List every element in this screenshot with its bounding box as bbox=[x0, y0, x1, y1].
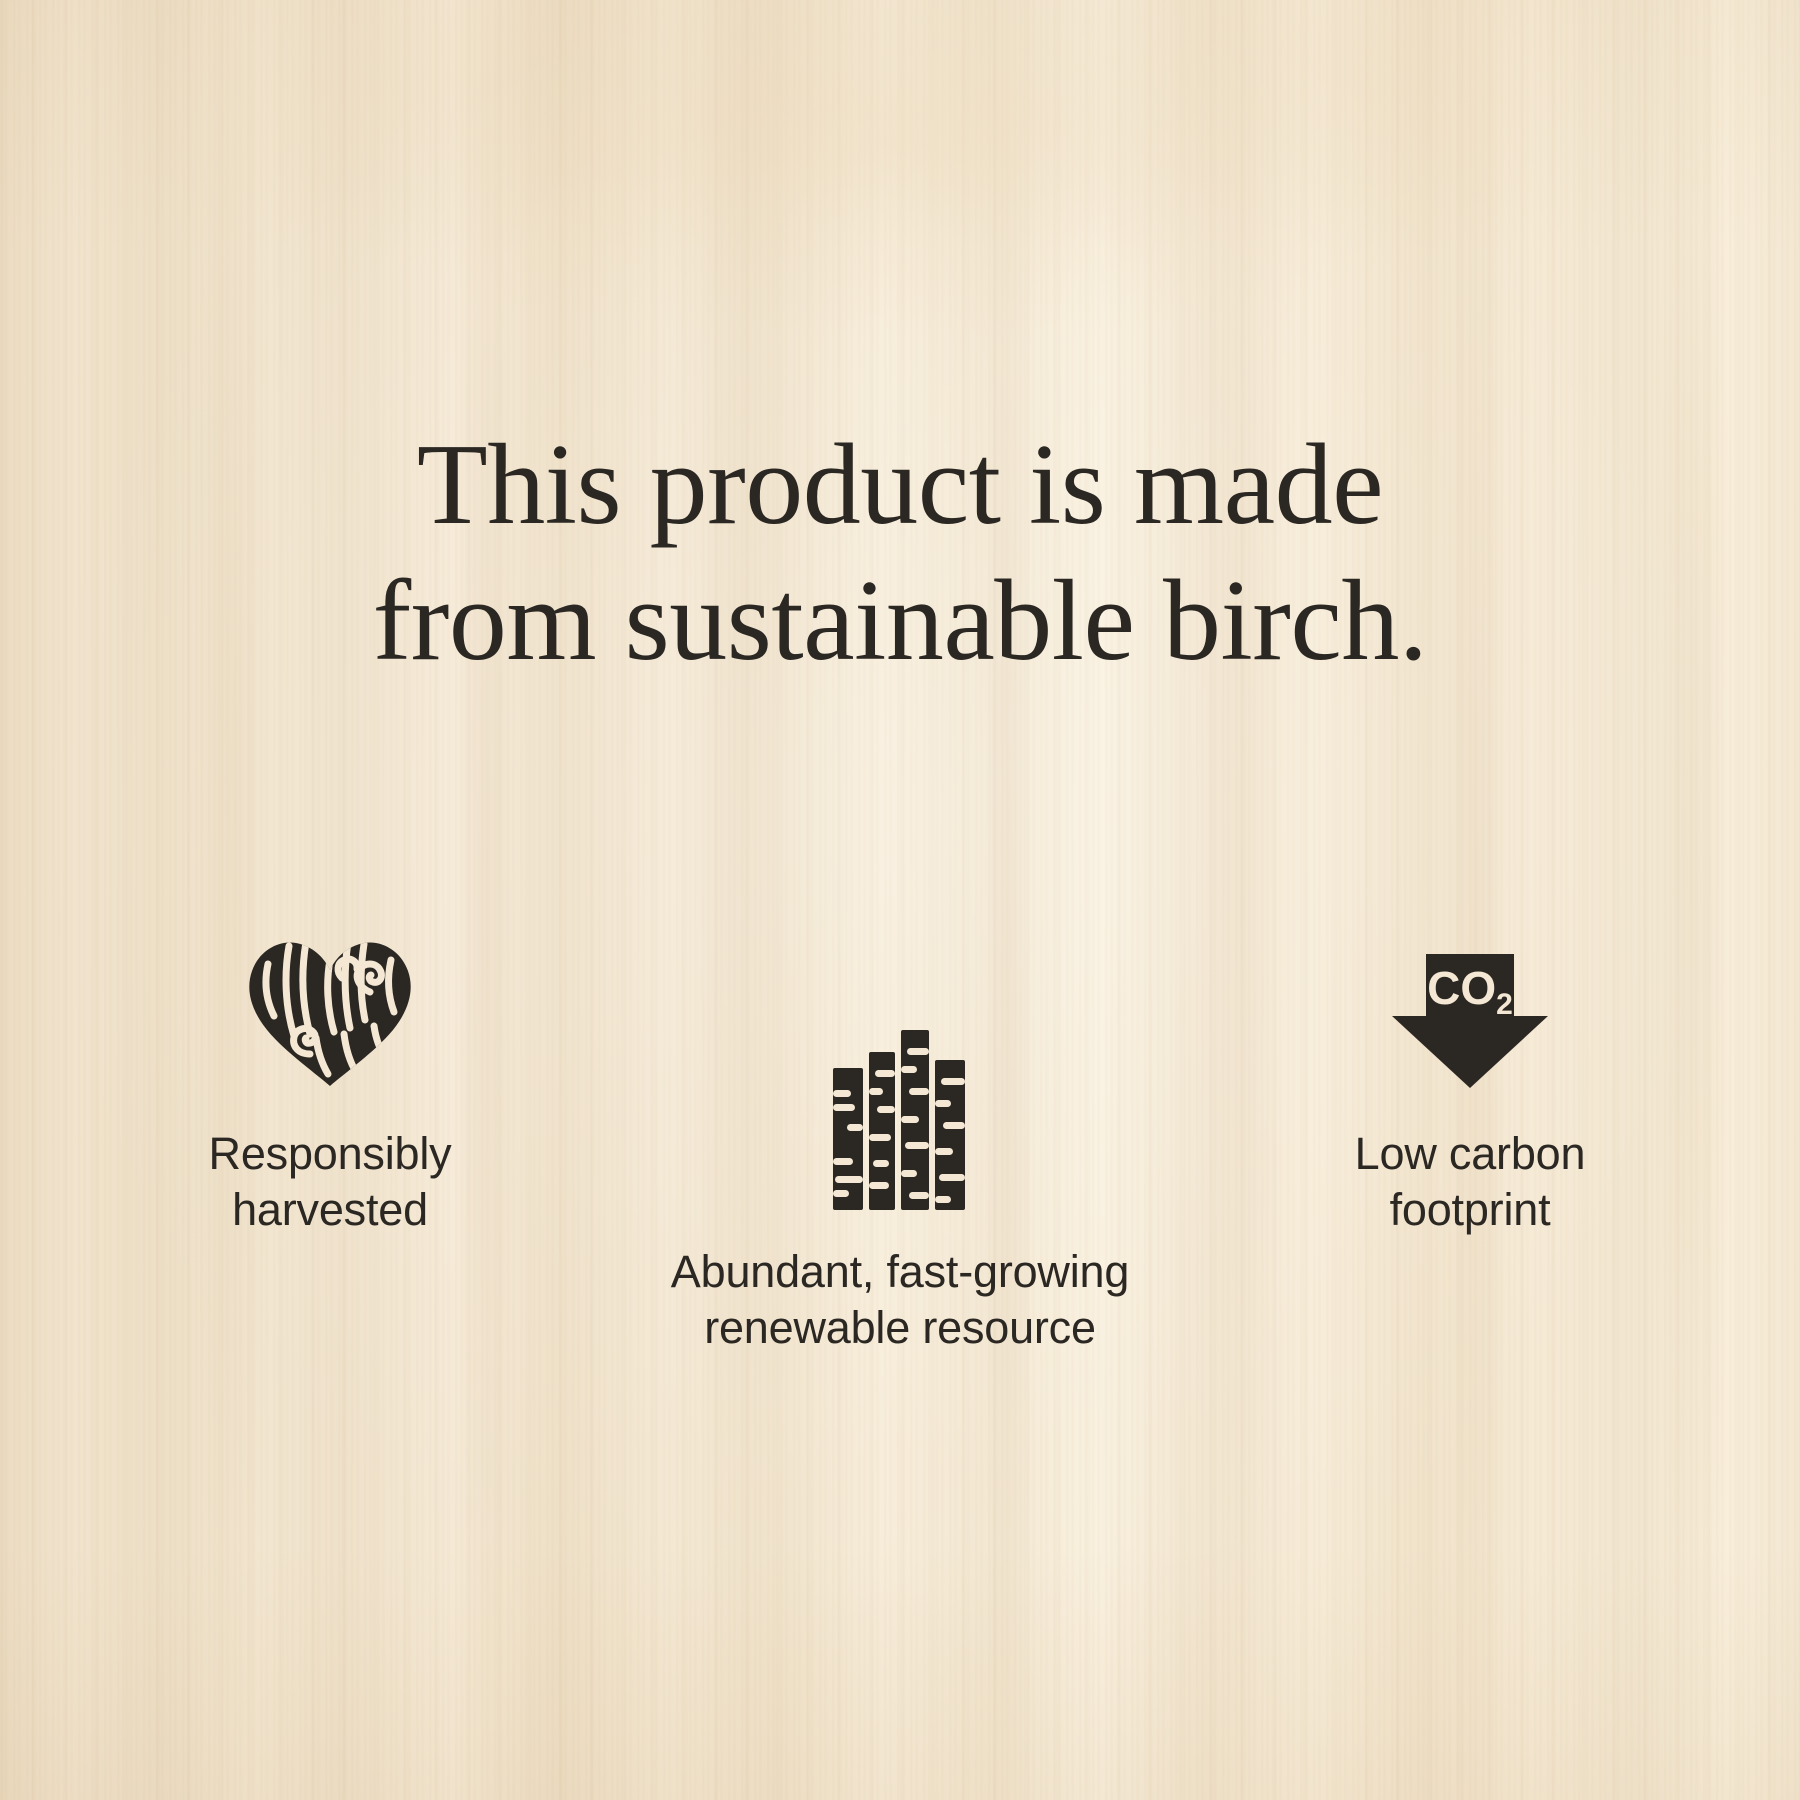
feature-responsibly-harvested: Responsibly harvested bbox=[80, 910, 580, 1239]
headline: This product is made from sustainable bi… bbox=[0, 418, 1800, 689]
feature-label: Low carbon footprint bbox=[1220, 1126, 1720, 1239]
sustainability-product-graphic: This product is made from sustainable bi… bbox=[0, 0, 1800, 1800]
headline-line-1: This product is made bbox=[0, 418, 1800, 554]
wood-grain-heart-icon bbox=[80, 910, 580, 1090]
birch-trunks-icon bbox=[620, 910, 1180, 1210]
feature-low-carbon-footprint: CO2 Low carbon footprint bbox=[1220, 910, 1720, 1239]
feature-renewable-resource: Abundant, fast-growing renewable resourc… bbox=[620, 910, 1180, 1357]
feature-label: Responsibly harvested bbox=[80, 1126, 580, 1239]
feature-columns: Responsibly harvested bbox=[0, 900, 1800, 1400]
feature-label: Abundant, fast-growing renewable resourc… bbox=[620, 1244, 1180, 1357]
co2-down-arrow-icon: CO2 bbox=[1220, 910, 1720, 1090]
content-layer: This product is made from sustainable bi… bbox=[0, 0, 1800, 1800]
headline-line-2: from sustainable birch. bbox=[0, 554, 1800, 690]
